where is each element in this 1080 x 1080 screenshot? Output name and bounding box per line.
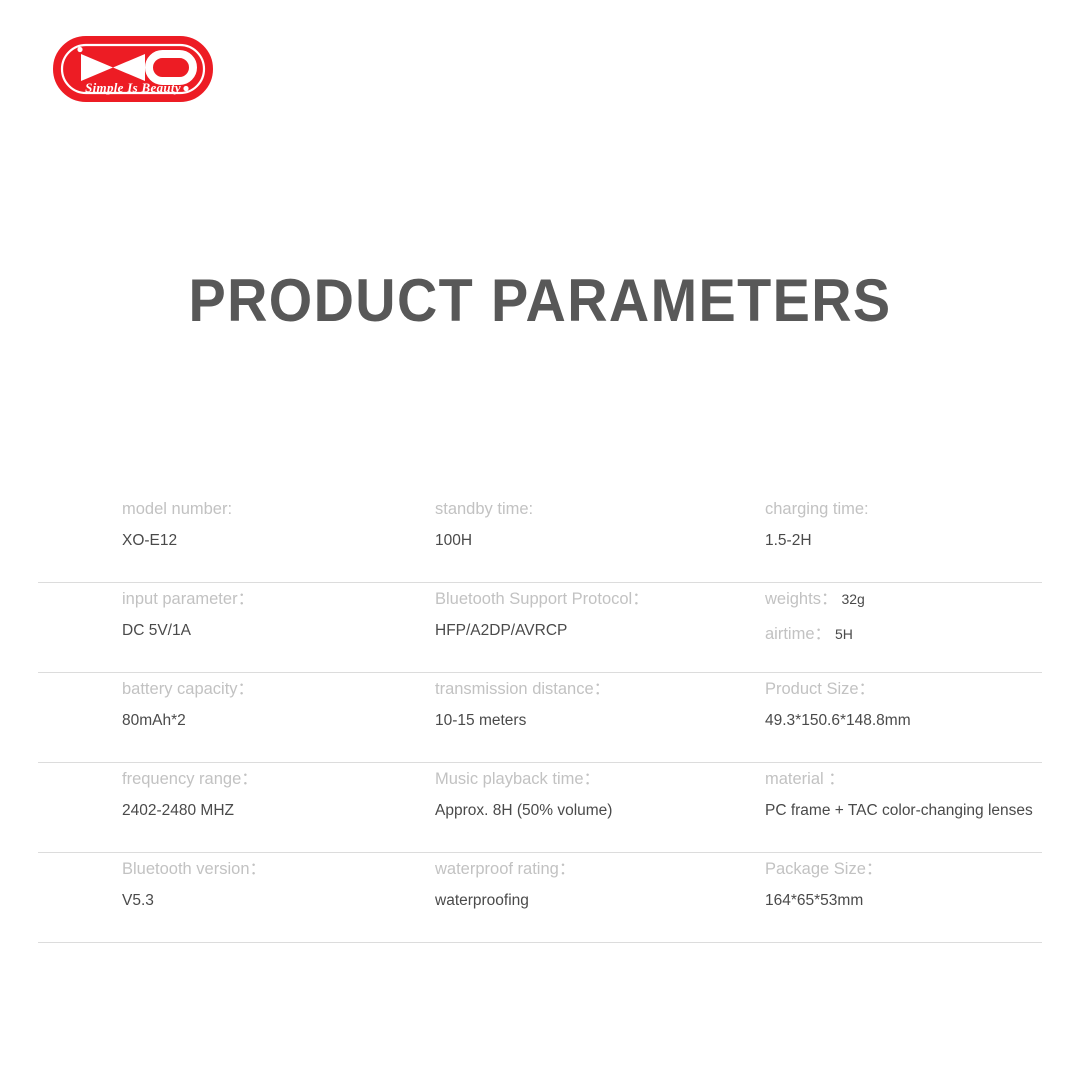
spec-cell: model number:XO-E12 xyxy=(122,498,232,552)
spec-label: charging time: xyxy=(765,498,869,520)
spec-label: transmission distance： xyxy=(435,678,610,700)
spec-value: V5.3 xyxy=(122,890,266,912)
spec-value: 164*65*53mm xyxy=(765,890,882,912)
spec-value: 2402-2480 MHZ xyxy=(122,800,258,822)
spec-label: waterproof rating： xyxy=(435,858,575,880)
spec-pair: airtime：5H xyxy=(765,623,865,646)
table-row: input parameter：DC 5V/1ABluetooth Suppor… xyxy=(38,583,1042,673)
spec-cell: Bluetooth version：V5.3 xyxy=(122,858,266,912)
spec-label: input parameter： xyxy=(122,588,254,610)
spec-cell: charging time:1.5-2H xyxy=(765,498,869,552)
table-row: model number:XO-E12standby time:100Hchar… xyxy=(38,493,1042,583)
spec-label: standby time: xyxy=(435,498,533,520)
spec-label: model number: xyxy=(122,498,232,520)
spec-pair: weights：32g xyxy=(765,588,865,611)
spec-cell: Product Size：49.3*150.6*148.8mm xyxy=(765,678,911,732)
spec-cell: Package Size：164*65*53mm xyxy=(765,858,882,912)
spec-label: Package Size： xyxy=(765,858,882,880)
spec-value: 5H xyxy=(835,626,853,642)
spec-cell: transmission distance：10-15 meters xyxy=(435,678,610,732)
spec-value: 32g xyxy=(841,591,864,607)
spec-label: frequency range： xyxy=(122,768,258,790)
spec-cell: waterproof rating：waterproofing xyxy=(435,858,575,912)
spec-label: Bluetooth Support Protocol： xyxy=(435,588,649,610)
spec-value: DC 5V/1A xyxy=(122,620,254,642)
page-title: PRODUCT PARAMETERS xyxy=(38,268,1042,334)
spec-label: Bluetooth version： xyxy=(122,858,266,880)
xo-logo-icon: Simple Is Beauty xyxy=(53,36,213,102)
product-parameters-table: model number:XO-E12standby time:100Hchar… xyxy=(38,493,1042,943)
spec-label: weights： xyxy=(765,590,837,608)
spec-cell: standby time:100H xyxy=(435,498,533,552)
spec-value: 100H xyxy=(435,530,533,552)
spec-value: HFP/A2DP/AVRCP xyxy=(435,620,649,642)
spec-cell: frequency range：2402-2480 MHZ xyxy=(122,768,258,822)
brand-logo: Simple Is Beauty xyxy=(53,36,213,102)
table-row: frequency range：2402-2480 MHZMusic playb… xyxy=(38,763,1042,853)
spec-value: waterproofing xyxy=(435,890,575,912)
spec-label: material ： xyxy=(765,768,1033,790)
spec-label: airtime： xyxy=(765,625,831,643)
spec-cell: Bluetooth Support Protocol：HFP/A2DP/AVRC… xyxy=(435,588,649,642)
spec-value: 10-15 meters xyxy=(435,710,610,732)
spec-value: XO-E12 xyxy=(122,530,232,552)
logo-tagline: Simple Is Beauty xyxy=(85,80,181,95)
spec-value: 1.5-2H xyxy=(765,530,869,552)
table-row: Bluetooth version：V5.3waterproof rating：… xyxy=(38,853,1042,943)
spec-cell: battery capacity：80mAh*2 xyxy=(122,678,254,732)
spec-label: Music playback time： xyxy=(435,768,612,790)
spec-cell: Music playback time：Approx. 8H (50% volu… xyxy=(435,768,612,822)
spec-cell: input parameter：DC 5V/1A xyxy=(122,588,254,642)
table-row: battery capacity：80mAh*2transmission dis… xyxy=(38,673,1042,763)
spec-value: Approx. 8H (50% volume) xyxy=(435,800,612,822)
spec-value: 49.3*150.6*148.8mm xyxy=(765,710,911,732)
spec-value: 80mAh*2 xyxy=(122,710,254,732)
spec-cell: weights：32gairtime：5H xyxy=(765,588,865,646)
spec-label: battery capacity： xyxy=(122,678,254,700)
spec-cell: material ：PC frame + TAC color-changing … xyxy=(765,768,1033,822)
spec-label: Product Size： xyxy=(765,678,911,700)
spec-value: PC frame + TAC color-changing lenses xyxy=(765,800,1033,822)
